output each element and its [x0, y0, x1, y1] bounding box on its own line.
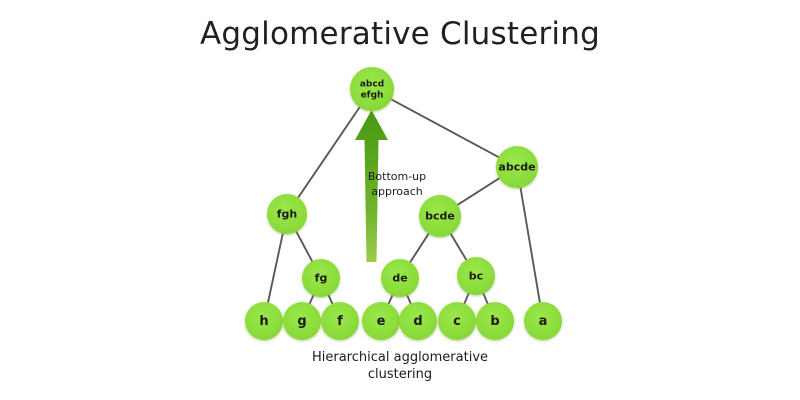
cluster-node-label-d: d [413, 314, 422, 329]
edge-fg-g [309, 294, 313, 304]
cluster-node-label-root-line1: abcd [360, 80, 384, 90]
cluster-node-abcde[interactable]: abcde [496, 146, 538, 188]
arrow-label-line1: Bottom-up [368, 170, 426, 183]
nodes-layer: abcdefghabcdefghbcdefgdebchgfedcba [245, 67, 562, 340]
caption-line-1: Hierarchical agglomerative [0, 349, 800, 366]
cluster-node-b[interactable]: b [476, 302, 514, 340]
cluster-node-label-a: a [539, 314, 548, 329]
cluster-node-f[interactable]: f [321, 302, 359, 340]
slide-canvas: Agglomerative Clustering abcdefghabcdefg… [0, 0, 800, 400]
cluster-node-label-root-line2: efgh [361, 91, 384, 101]
cluster-node-h[interactable]: h [245, 302, 283, 340]
edge-fg-f [328, 294, 332, 304]
diagram-caption: Hierarchical agglomerative clustering [0, 349, 800, 383]
edge-bc-b [483, 293, 488, 305]
edge-bc-c [464, 293, 469, 305]
cluster-node-label-c: c [453, 314, 461, 329]
cluster-node-de[interactable]: de [381, 259, 419, 297]
edge-bcde-de [410, 233, 429, 263]
cluster-node-label-b: b [490, 314, 499, 329]
cluster-node-root[interactable]: abcdefgh [350, 67, 394, 111]
cluster-node-e[interactable]: e [362, 302, 400, 340]
cluster-node-bc[interactable]: bc [457, 257, 495, 295]
cluster-node-label-bcde: bcde [425, 210, 455, 223]
cluster-node-c[interactable]: c [438, 302, 476, 340]
cluster-node-label-f: f [337, 314, 343, 329]
edge-abcde-bcde [457, 178, 500, 206]
cluster-node-fg[interactable]: fg [302, 259, 340, 297]
edge-de-e [388, 294, 392, 304]
cluster-node-bcde[interactable]: bcde [419, 195, 461, 237]
cluster-node-label-abcde: abcde [498, 161, 535, 174]
edge-root-abcde [390, 99, 499, 158]
cluster-node-label-fg: fg [315, 272, 328, 285]
cluster-node-fgh[interactable]: fgh [267, 194, 307, 234]
edge-fgh-h [268, 233, 283, 304]
arrow-label-line2: approach [371, 185, 423, 198]
cluster-node-d[interactable]: d [399, 302, 437, 340]
edge-bcde-bc [450, 233, 466, 260]
cluster-node-label-g: g [297, 314, 306, 329]
edge-de-d [407, 295, 411, 305]
cluster-node-label-de: de [392, 272, 407, 285]
edge-fgh-fg [296, 231, 313, 262]
edge-root-fgh [298, 106, 361, 198]
cluster-node-a[interactable]: a [524, 302, 562, 340]
caption-line-2: clustering [0, 366, 800, 383]
cluster-node-g[interactable]: g [283, 302, 321, 340]
cluster-node-label-h: h [259, 314, 268, 329]
edge-abcde-a [520, 187, 540, 304]
cluster-node-label-bc: bc [469, 270, 483, 283]
dendrogram-diagram: abcdefghabcdefghbcdefgdebchgfedcba Botto… [0, 0, 800, 400]
cluster-node-label-e: e [377, 314, 386, 329]
cluster-node-label-fgh: fgh [277, 208, 298, 221]
